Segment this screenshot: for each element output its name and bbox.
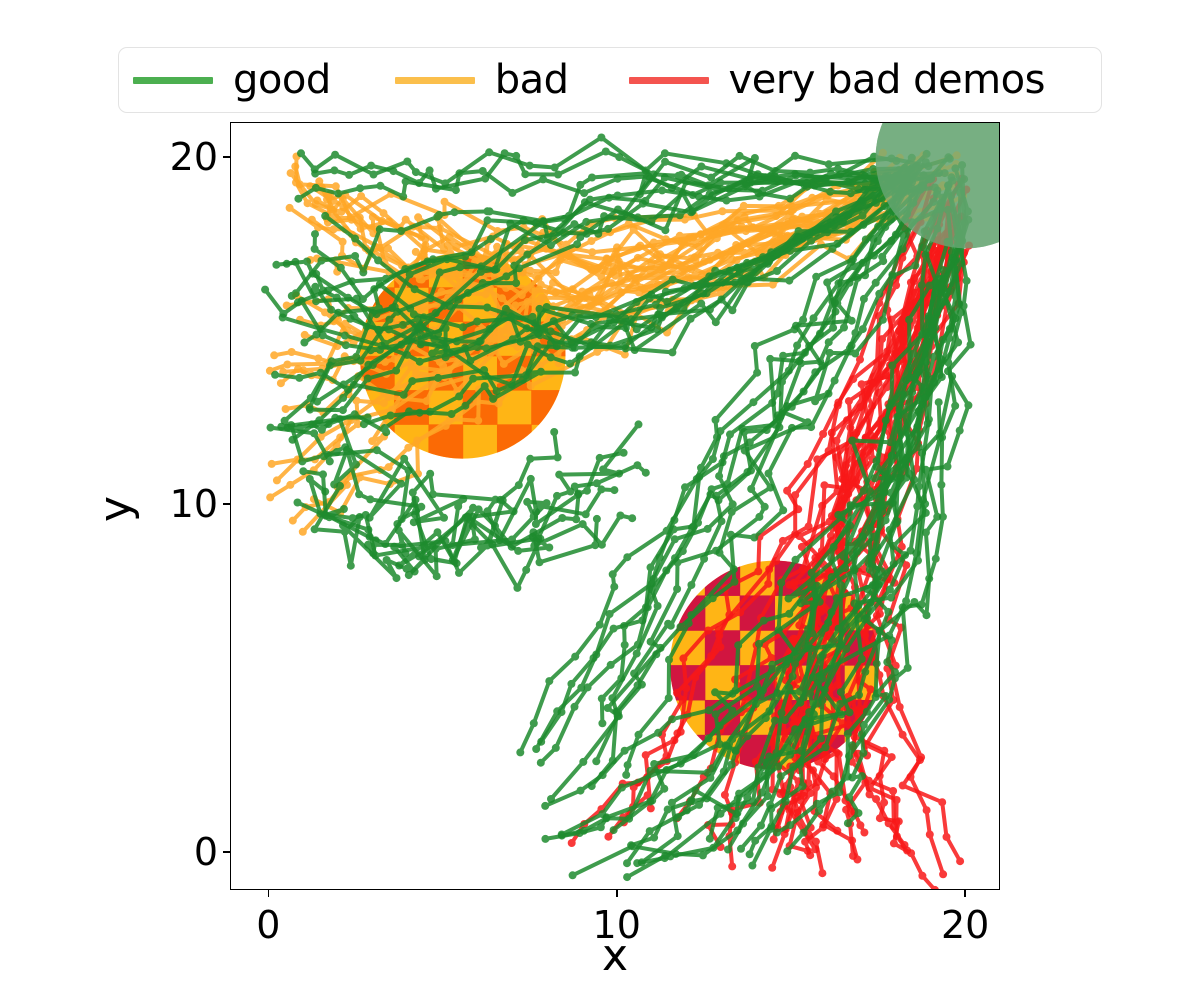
legend-entry-bad: bad bbox=[395, 60, 569, 100]
x-axis-label: x bbox=[0, 934, 1200, 978]
plot-area bbox=[230, 122, 1000, 890]
y-tick-mark bbox=[223, 851, 230, 853]
legend-label-good: good bbox=[233, 60, 331, 100]
legend-entry-very-bad-demos: very bad demos bbox=[629, 60, 1045, 100]
legend-entry-good: good bbox=[133, 60, 331, 100]
y-tick-label: 0 bbox=[110, 833, 218, 871]
trajectory-layer bbox=[261, 134, 975, 891]
region-goal-overlay bbox=[876, 123, 1000, 248]
x-tick-mark bbox=[964, 890, 966, 897]
legend-swatch-good bbox=[133, 77, 213, 84]
legend-label-very-bad-demos: very bad demos bbox=[729, 60, 1045, 100]
x-tick-mark bbox=[268, 890, 270, 897]
y-tick-mark bbox=[223, 503, 230, 505]
y-axis-label: y bbox=[94, 496, 138, 522]
legend-swatch-bad bbox=[395, 77, 475, 84]
trajectory-canvas bbox=[231, 123, 1000, 890]
y-tick-mark bbox=[223, 156, 230, 158]
figure-root: good bad very bad demos 0102001020 x y bbox=[0, 0, 1200, 1000]
legend-swatch-very-bad-demos bbox=[629, 77, 709, 84]
x-tick-mark bbox=[616, 890, 618, 897]
y-tick-label: 20 bbox=[110, 138, 218, 176]
chart-legend: good bad very bad demos bbox=[118, 47, 1102, 113]
legend-label-bad: bad bbox=[495, 60, 569, 100]
